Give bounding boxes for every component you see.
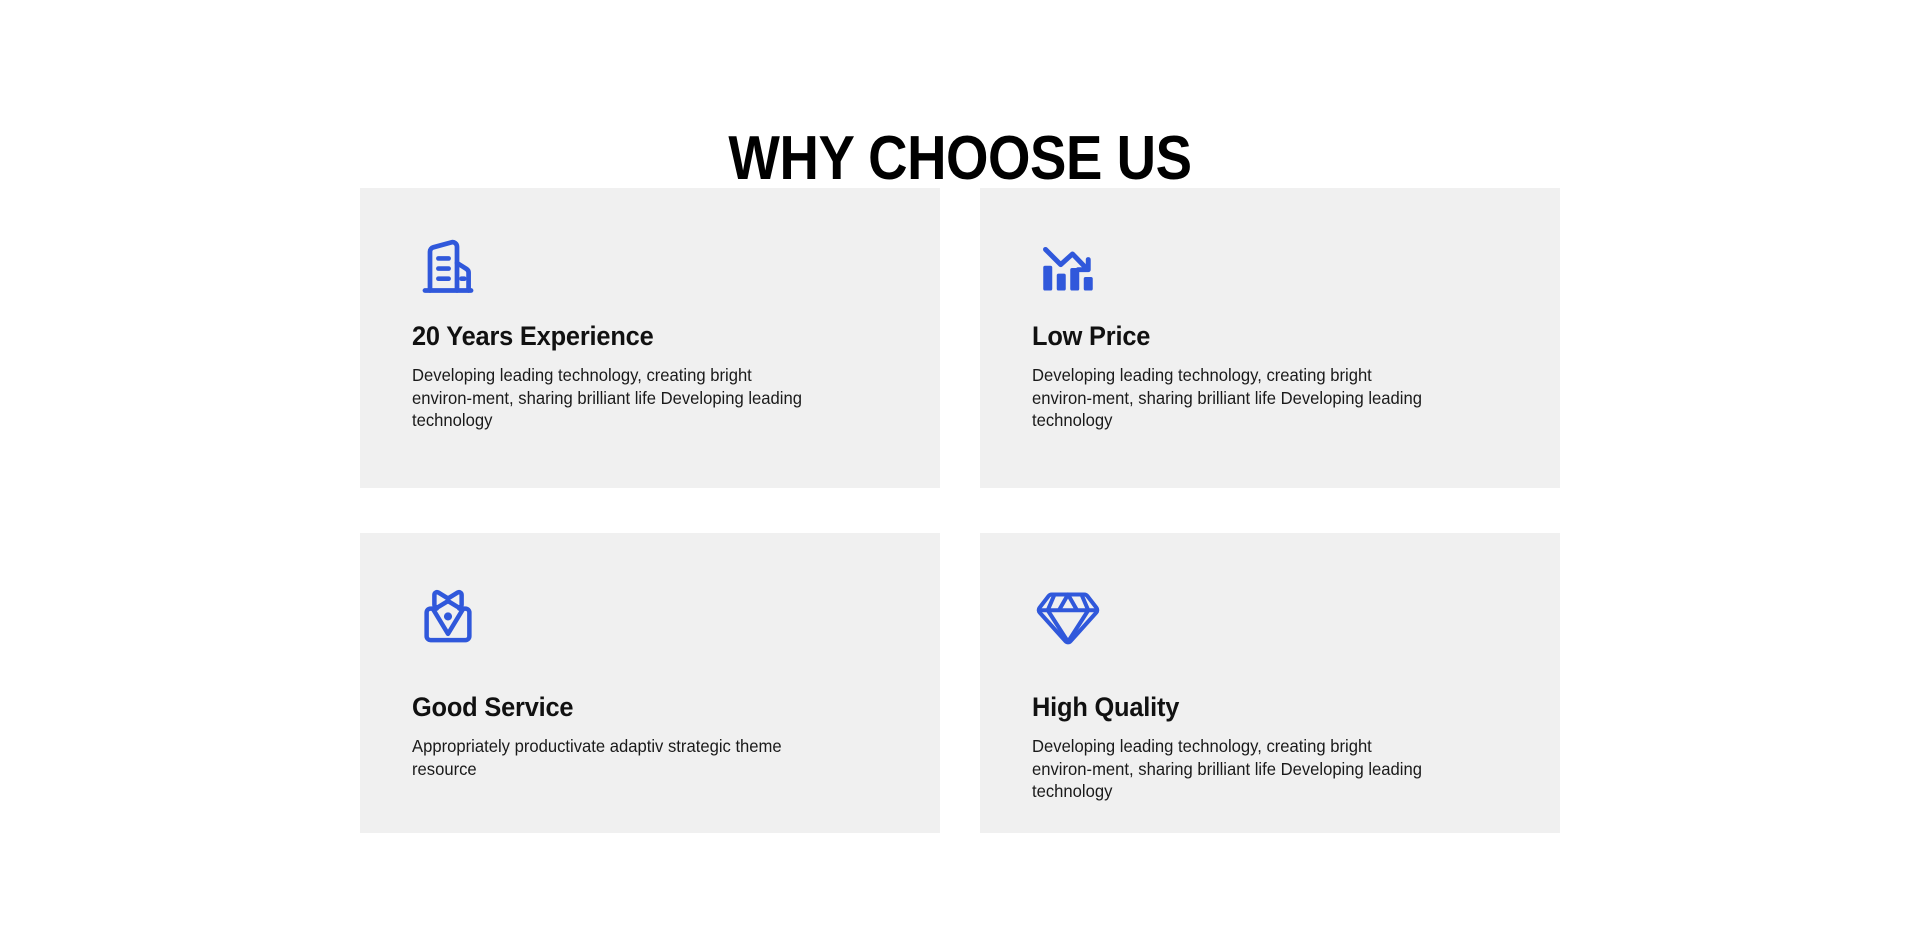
diamond-gem-icon: [1032, 581, 1104, 653]
card-title: Good Service: [412, 691, 859, 723]
declining-bar-chart-icon: [1032, 232, 1104, 304]
feature-card-experience[interactable]: 20 Years Experience Developing leading t…: [360, 188, 940, 488]
card-description: Developing leading technology, creating …: [1032, 364, 1431, 432]
bow-tie-suit-icon: [412, 581, 484, 653]
card-title: High Quality: [1032, 691, 1479, 723]
feature-card-good-service[interactable]: Good Service Appropriately productivate …: [360, 533, 940, 833]
feature-card-low-price[interactable]: Low Price Developing leading technology,…: [980, 188, 1560, 488]
page-title: WHY CHOOSE US: [115, 126, 1805, 192]
office-building-icon: [412, 232, 484, 304]
card-title: 20 Years Experience: [412, 320, 859, 352]
card-description: Developing leading technology, creating …: [412, 364, 811, 432]
card-description: Developing leading technology, creating …: [1032, 735, 1431, 803]
feature-cards-grid: 20 Years Experience Developing leading t…: [360, 188, 1560, 833]
why-choose-us-section: WHY CHOOSE US 20 Years Experience Develo…: [0, 0, 1920, 930]
feature-card-high-quality[interactable]: High Quality Developing leading technolo…: [980, 533, 1560, 833]
card-title: Low Price: [1032, 320, 1479, 352]
card-description: Appropriately productivate adaptiv strat…: [412, 735, 811, 780]
